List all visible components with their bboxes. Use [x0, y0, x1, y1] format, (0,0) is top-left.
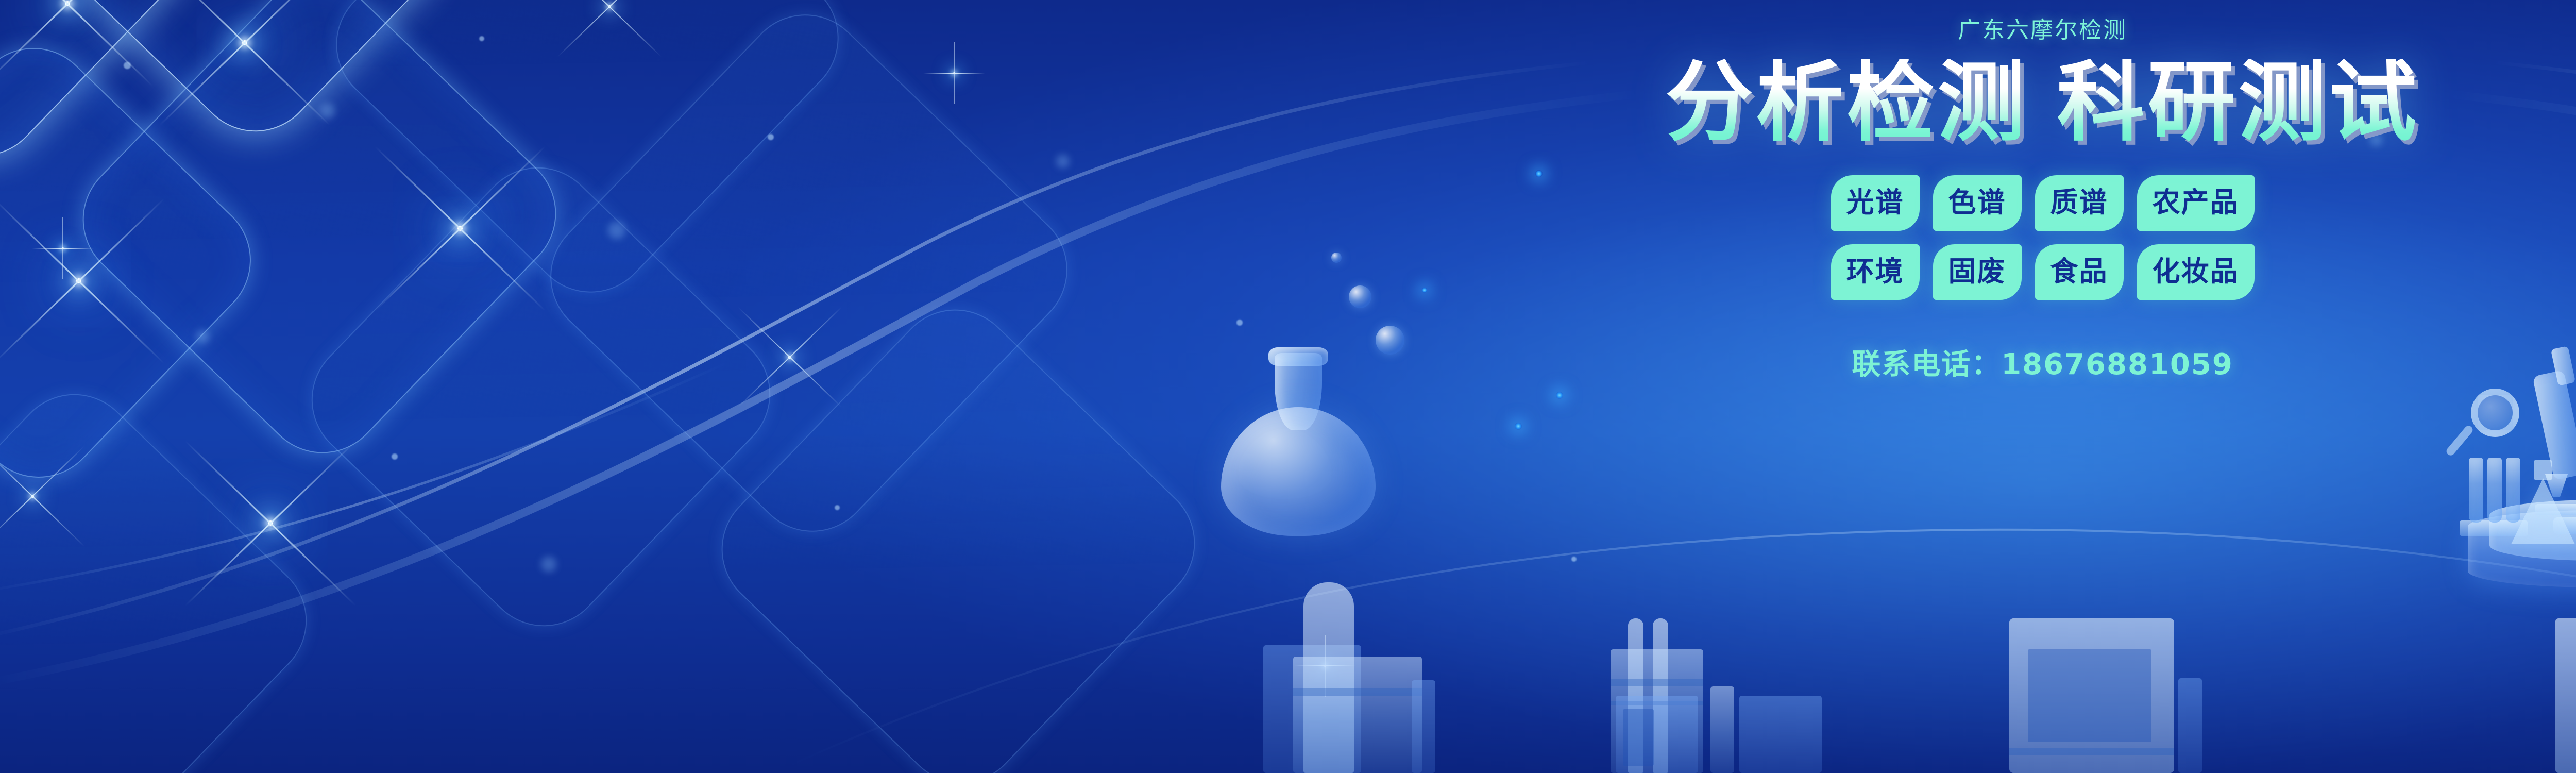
- banner-content: 广东六摩尔检测 分析检测科研测试 光谱 色谱 质谱 农产品 环境 固废 食品 化…: [0, 0, 2576, 773]
- headline-left: 分析检测: [1665, 52, 2028, 154]
- service-tag-cosmetics[interactable]: 化妆品: [2137, 244, 2255, 300]
- service-tag-solid-waste[interactable]: 固废: [1933, 244, 2022, 300]
- service-tag-row: 环境 固废 食品 化妆品: [1831, 244, 2255, 300]
- promo-banner: 广东六摩尔检测 分析检测科研测试 光谱 色谱 质谱 农产品 环境 固废 食品 化…: [0, 0, 2576, 773]
- service-tag-spectroscopy[interactable]: 光谱: [1831, 175, 1920, 231]
- contact-phone[interactable]: 联系电话：18676881059: [1852, 341, 2233, 383]
- service-tag-mass-spectrometry[interactable]: 质谱: [2035, 175, 2124, 231]
- headline-right: 科研测试: [2057, 52, 2420, 154]
- service-tag-environment[interactable]: 环境: [1831, 244, 1920, 300]
- page-title: 分析检测科研测试: [1665, 59, 2419, 146]
- service-tag-groups: 光谱 色谱 质谱 农产品 环境 固废 食品 化妆品: [1831, 175, 2255, 300]
- service-tag-agricultural-products[interactable]: 农产品: [2137, 175, 2255, 231]
- service-tag-chromatography[interactable]: 色谱: [1933, 175, 2022, 231]
- service-tag-row: 光谱 色谱 质谱 农产品: [1831, 175, 2255, 231]
- brand-name: 广东六摩尔检测: [1958, 11, 2127, 44]
- service-tag-food[interactable]: 食品: [2035, 244, 2124, 300]
